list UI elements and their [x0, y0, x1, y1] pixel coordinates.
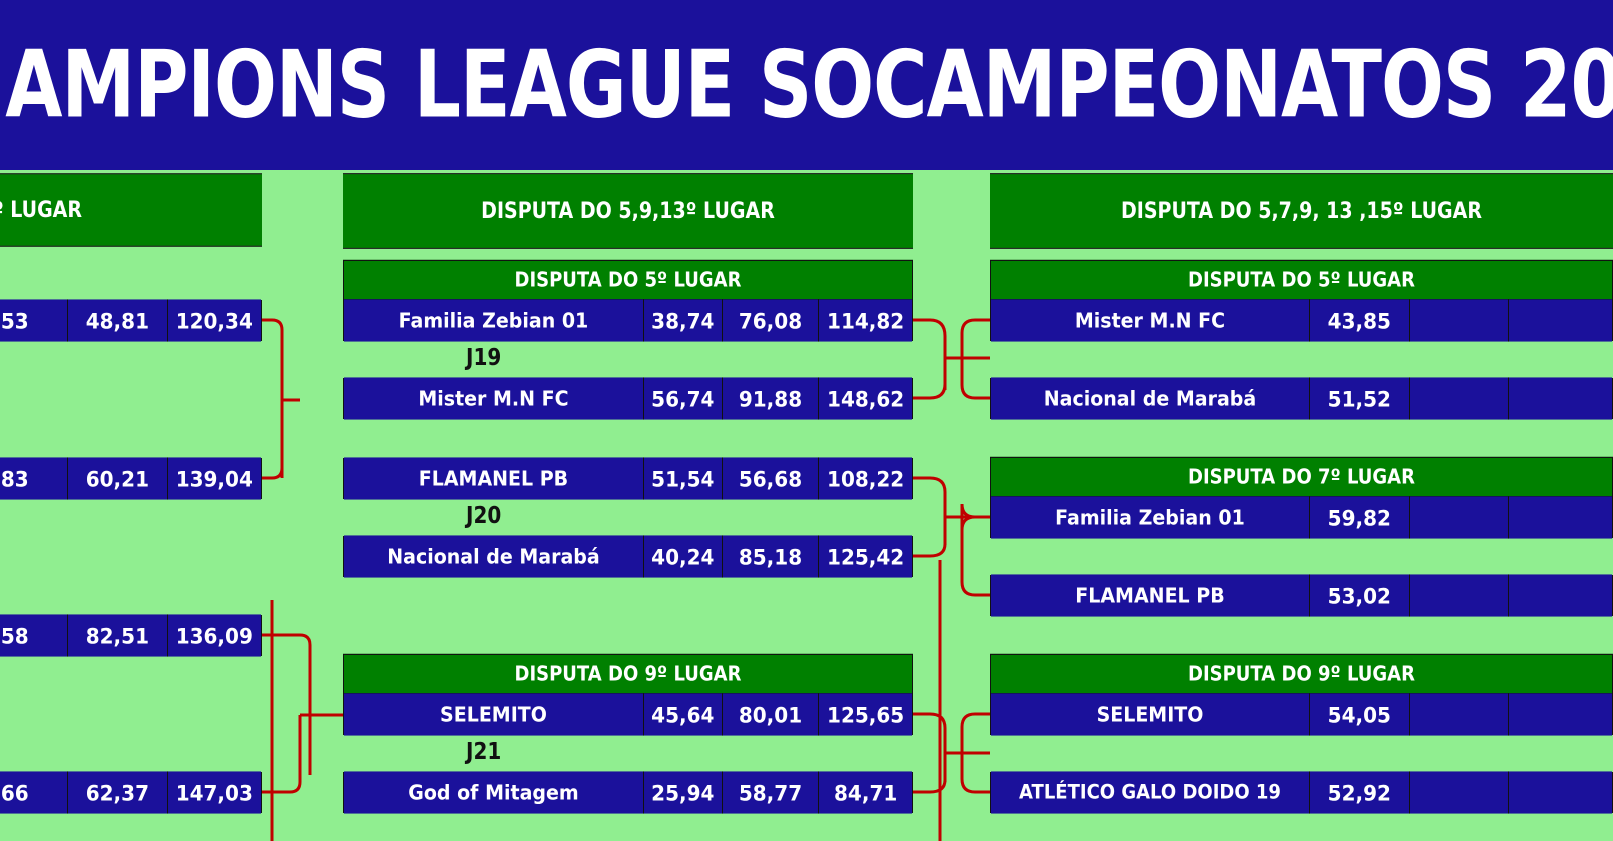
match-label-j20: J20 [466, 501, 501, 529]
team-score-2: 85,18 [723, 535, 820, 577]
bracket-line [962, 714, 990, 792]
left-row-4[interactable]: 84,66 62,37 147,03 [0, 772, 262, 813]
bracket-line [913, 780, 945, 792]
team-score-1: 43,85 [1310, 299, 1410, 341]
left-cell-1: 71,53 [0, 299, 68, 341]
team-name: Nacional de Marabá [344, 535, 644, 577]
left-cell-2: 62,37 [68, 771, 167, 813]
team-total [1509, 771, 1612, 813]
bracket-line [913, 384, 945, 398]
right-match-7th-team-1[interactable]: Familia Zebian 01 59,82 [990, 497, 1613, 538]
team-score-2: 58,77 [723, 771, 820, 813]
team-score-2 [1410, 377, 1510, 419]
right-match-7th-team-2[interactable]: FLAMANEL PB 53,02 [990, 575, 1613, 616]
band-middle: DISPUTA DO 5,9,13º LUGAR [343, 173, 913, 249]
team-name: Mister M.N FC [344, 377, 644, 419]
team-name: ATLÉTICO GALO DOIDO 19 [991, 771, 1310, 813]
team-score-2 [1410, 771, 1510, 813]
team-name: Familia Zebian 01 [344, 299, 644, 341]
team-total: 84,71 [819, 771, 912, 813]
team-score-1: 51,52 [1310, 377, 1410, 419]
right-block-9th: DISPUTA DO 9º LUGAR [990, 656, 1613, 692]
left-row-3[interactable]: 53,58 82,51 136,09 [0, 615, 262, 656]
team-total [1509, 496, 1612, 538]
band-right: DISPUTA DO 5,7,9, 13 ,15º LUGAR [990, 173, 1613, 249]
match-label-j21: J21 [466, 737, 501, 765]
team-score-2 [1410, 496, 1510, 538]
team-total [1509, 377, 1612, 419]
team-score-2 [1410, 299, 1510, 341]
bracket-line [913, 478, 945, 545]
left-cell-1: 78,83 [0, 457, 68, 499]
left-cell-3: 120,34 [168, 299, 261, 341]
right-match-5th-team-2[interactable]: Nacional de Marabá 51,52 [990, 378, 1613, 419]
team-name: Nacional de Marabá [991, 377, 1310, 419]
right-block-5th-header: DISPUTA DO 5º LUGAR [990, 260, 1613, 300]
team-total: 148,62 [819, 377, 912, 419]
right-match-5th-team-1[interactable]: Mister M.N FC 43,85 [990, 300, 1613, 341]
team-score-1: 53,02 [1310, 574, 1410, 616]
team-name: SELEMITO [344, 693, 644, 735]
middle-match-j19-team-1[interactable]: Familia Zebian 01 38,74 76,08 114,82 [343, 300, 913, 341]
match-label-j19: J19 [466, 343, 501, 371]
bracket-line [962, 504, 990, 530]
team-name: FLAMANEL PB [344, 457, 644, 499]
middle-block-9th-header: DISPUTA DO 9º LUGAR [343, 654, 913, 694]
bracket-line [913, 320, 945, 390]
middle-block-5th-header: DISPUTA DO 5º LUGAR [343, 260, 913, 300]
right-block-9th-header: DISPUTA DO 9º LUGAR [990, 654, 1613, 694]
left-cell-3: 136,09 [168, 614, 261, 656]
middle-match-j19-team-2[interactable]: Mister M.N FC 56,74 91,88 148,62 [343, 378, 913, 419]
team-score-1: 51,54 [644, 457, 723, 499]
team-total: 108,22 [819, 457, 912, 499]
title-banner: CHAMPIONS LEAGUE SOCAMPEONATOS 2020 [0, 0, 1613, 170]
team-name: Mister M.N FC [991, 299, 1310, 341]
team-score-2: 91,88 [723, 377, 820, 419]
team-score-1: 25,94 [644, 771, 723, 813]
bracket-line [262, 320, 282, 478]
team-score-1: 38,74 [644, 299, 723, 341]
right-block-5th: DISPUTA DO 5º LUGAR [990, 262, 1613, 298]
team-total [1509, 299, 1612, 341]
team-total [1509, 693, 1612, 735]
bracket-line [962, 320, 990, 398]
left-cell-2: 48,81 [68, 299, 167, 341]
middle-match-j20-team-1[interactable]: FLAMANEL PB 51,54 56,68 108,22 [343, 458, 913, 499]
team-name: SELEMITO [991, 693, 1310, 735]
left-row-1[interactable]: 71,53 48,81 120,34 [0, 300, 262, 341]
bracket-line [913, 714, 945, 782]
middle-match-j21-team-2[interactable]: God of Mitagem 25,94 58,77 84,71 [343, 772, 913, 813]
right-block-7th-header: DISPUTA DO 7º LUGAR [990, 457, 1613, 497]
bracket-line [962, 517, 990, 595]
bracket-line [913, 544, 945, 556]
bracket-line [262, 468, 282, 478]
team-total: 125,42 [819, 535, 912, 577]
page-title: CHAMPIONS LEAGUE SOCAMPEONATOS 2020 [0, 31, 1613, 139]
middle-match-j20-team-2[interactable]: Nacional de Marabá 40,24 85,18 125,42 [343, 536, 913, 577]
left-cell-3: 147,03 [168, 771, 261, 813]
right-match-9th-team-1[interactable]: SELEMITO 54,05 [990, 694, 1613, 735]
team-score-1: 52,92 [1310, 771, 1410, 813]
bracket-line [262, 635, 310, 775]
right-match-9th-team-2[interactable]: ATLÉTICO GALO DOIDO 19 52,92 [990, 772, 1613, 813]
middle-block-5th: DISPUTA DO 5º LUGAR [343, 262, 913, 298]
band-left: 9º LUGAR [0, 173, 262, 247]
team-score-1: 56,74 [644, 377, 723, 419]
left-cell-3: 139,04 [168, 457, 261, 499]
bracket-line [262, 715, 300, 792]
left-cell-1: 84,66 [0, 771, 68, 813]
team-name: FLAMANEL PB [991, 574, 1310, 616]
middle-block-9th: DISPUTA DO 9º LUGAR [343, 656, 913, 692]
left-cell-2: 82,51 [68, 614, 167, 656]
right-block-7th: DISPUTA DO 7º LUGAR [990, 459, 1613, 495]
team-score-2: 56,68 [723, 457, 820, 499]
team-score-2 [1410, 693, 1510, 735]
team-score-1: 45,64 [644, 693, 723, 735]
team-score-1: 54,05 [1310, 693, 1410, 735]
middle-match-j21-team-1[interactable]: SELEMITO 45,64 80,01 125,65 [343, 694, 913, 735]
team-score-2: 80,01 [723, 693, 820, 735]
team-name: Familia Zebian 01 [991, 496, 1310, 538]
team-total: 125,65 [819, 693, 912, 735]
team-score-1: 59,82 [1310, 496, 1410, 538]
left-cell-2: 60,21 [68, 457, 167, 499]
left-cell-1: 53,58 [0, 614, 68, 656]
team-total: 114,82 [819, 299, 912, 341]
team-name: God of Mitagem [344, 771, 644, 813]
bracket-sheet: CHAMPIONS LEAGUE SOCAMPEONATOS 2020 9º L… [0, 0, 1613, 841]
team-score-1: 40,24 [644, 535, 723, 577]
left-row-2[interactable]: 78,83 60,21 139,04 [0, 458, 262, 499]
team-score-2 [1410, 574, 1510, 616]
team-score-2: 76,08 [723, 299, 820, 341]
team-total [1509, 574, 1612, 616]
